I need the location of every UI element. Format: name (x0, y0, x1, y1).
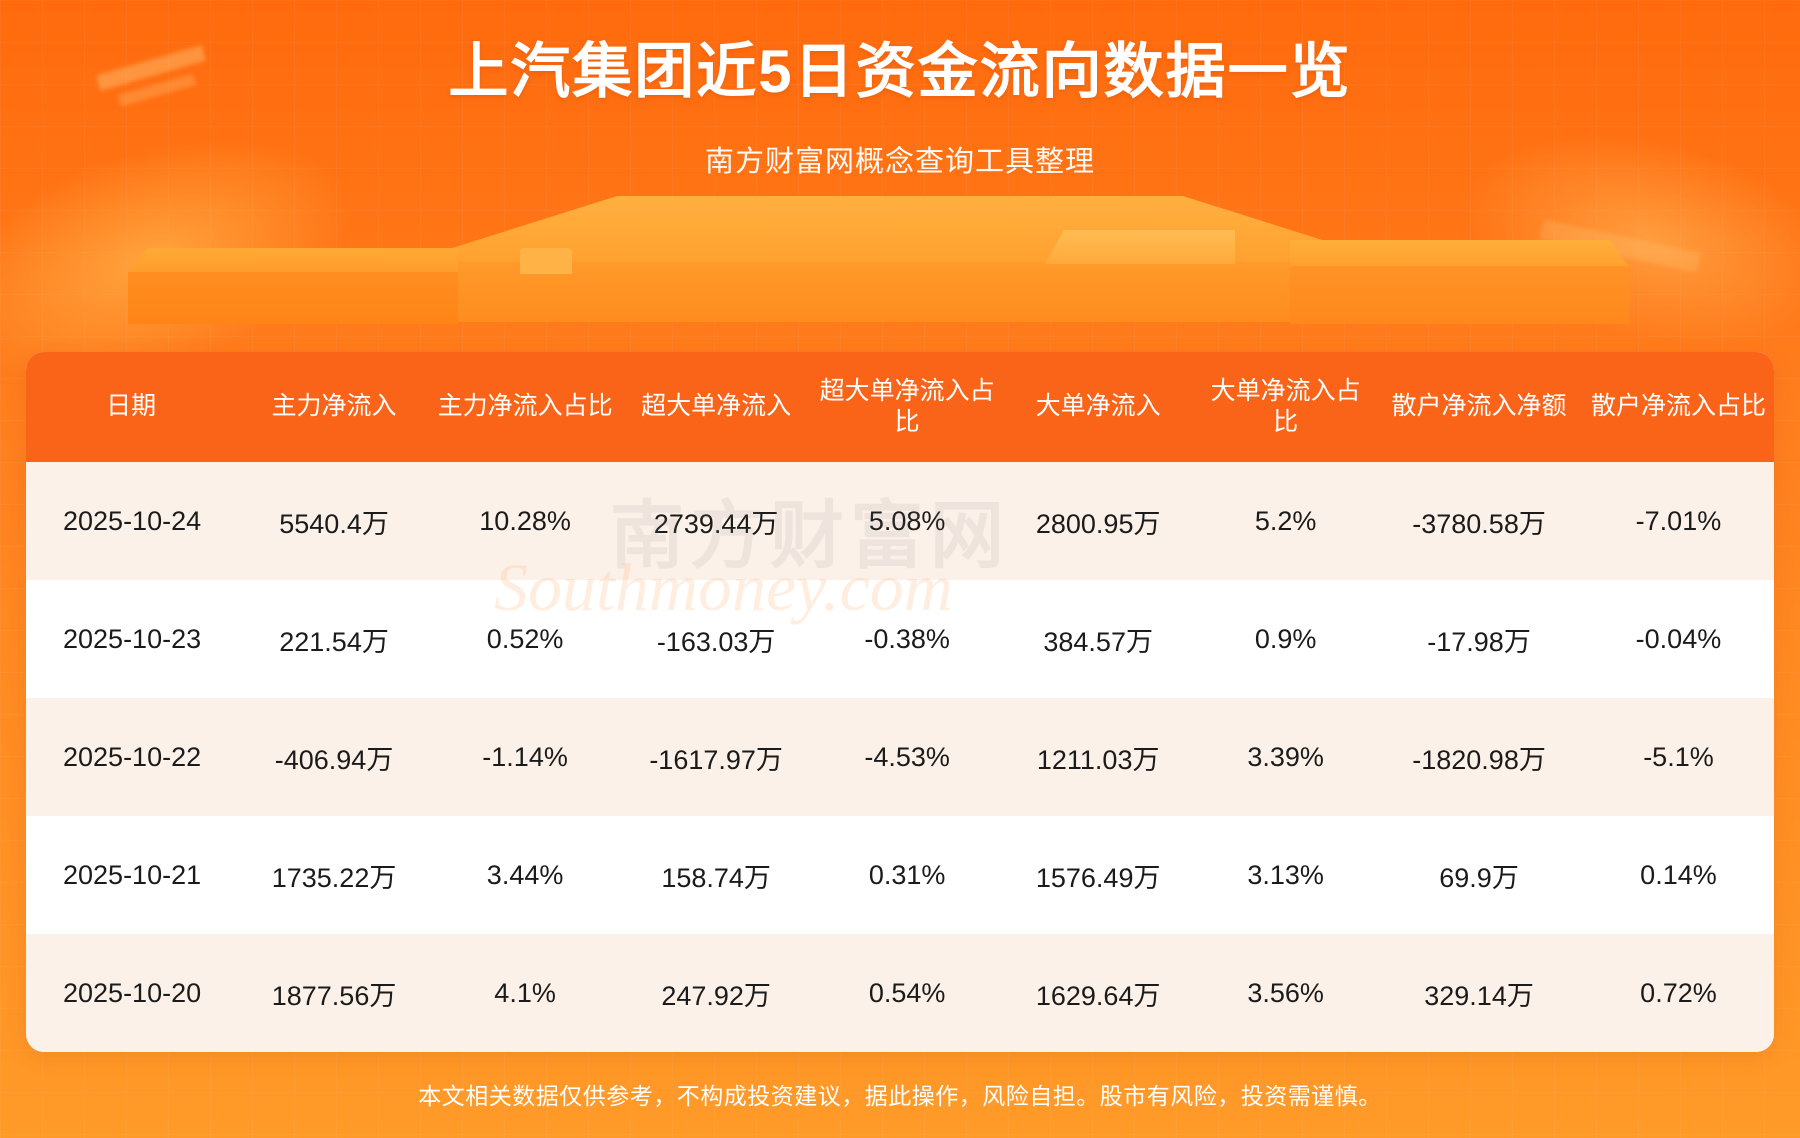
cell-large-net: 1629.64万 (1000, 934, 1196, 1052)
column-header-xlarge-net[interactable]: 超大单净流入 (618, 352, 814, 462)
cell-retail-pct: 0.14% (1583, 816, 1774, 934)
cell-retail-net: -3780.58万 (1375, 462, 1583, 580)
column-header-date[interactable]: 日期 (26, 352, 236, 462)
podium-right-top (1290, 240, 1630, 268)
cell-large-net: 1576.49万 (1000, 816, 1196, 934)
table-row: 2025-10-22 -406.94万 -1.14% -1617.97万 -4.… (26, 698, 1774, 816)
table-header-row: 日期 主力净流入 主力净流入占比 超大单净流入 超大单净流入占比 大单净流入 大… (26, 352, 1774, 462)
cell-date: 2025-10-22 (26, 698, 236, 816)
cell-xlarge-pct: -4.53% (814, 698, 1000, 816)
cell-xlarge-pct: 0.54% (814, 934, 1000, 1052)
cell-large-pct: 5.2% (1196, 462, 1375, 580)
cell-large-pct: 3.13% (1196, 816, 1375, 934)
podium-left-body (128, 272, 458, 324)
cell-large-pct: 3.39% (1196, 698, 1375, 816)
cell-xlarge-pct: -0.38% (814, 580, 1000, 698)
cell-main-net: 1735.22万 (236, 816, 432, 934)
cell-retail-pct: 0.72% (1583, 934, 1774, 1052)
table-row: 2025-10-20 1877.56万 4.1% 247.92万 0.54% 1… (26, 934, 1774, 1052)
cell-retail-net: -17.98万 (1375, 580, 1583, 698)
cell-xlarge-net: 2739.44万 (618, 462, 814, 580)
cell-main-net: 221.54万 (236, 580, 432, 698)
cell-main-pct: 3.44% (432, 816, 618, 934)
cell-main-pct: 0.52% (432, 580, 618, 698)
page-header: 上汽集团近5日资金流向数据一览 南方财富网概念查询工具整理 (0, 0, 1800, 180)
cell-retail-net: 69.9万 (1375, 816, 1583, 934)
cell-main-net: 5540.4万 (236, 462, 432, 580)
column-header-retail-net[interactable]: 散户净流入净额 (1375, 352, 1583, 462)
column-header-xlarge-pct[interactable]: 超大单净流入占比 (814, 352, 1000, 462)
cell-date: 2025-10-21 (26, 816, 236, 934)
disclaimer-text: 本文相关数据仅供参考，不构成投资建议，据此操作，风险自担。股市有风险，投资需谨慎… (418, 1077, 1382, 1111)
cell-date: 2025-10-24 (26, 462, 236, 580)
cell-large-net: 2800.95万 (1000, 462, 1196, 580)
cell-main-pct: -1.14% (432, 698, 618, 816)
podium-small-block-b (1045, 230, 1235, 264)
table-row: 2025-10-23 221.54万 0.52% -163.03万 -0.38%… (26, 580, 1774, 698)
podium-left-top (128, 248, 458, 274)
cell-xlarge-net: -163.03万 (618, 580, 814, 698)
cell-xlarge-net: -1617.97万 (618, 698, 814, 816)
cell-large-pct: 0.9% (1196, 580, 1375, 698)
cell-main-pct: 4.1% (432, 934, 618, 1052)
cell-xlarge-pct: 0.31% (814, 816, 1000, 934)
cell-retail-net: -1820.98万 (1375, 698, 1583, 816)
page-subtitle: 南方财富网概念查询工具整理 (0, 138, 1800, 180)
column-header-main-pct[interactable]: 主力净流入占比 (432, 352, 618, 462)
fund-flow-table: 日期 主力净流入 主力净流入占比 超大单净流入 超大单净流入占比 大单净流入 大… (26, 352, 1774, 1052)
cell-retail-net: 329.14万 (1375, 934, 1583, 1052)
cell-date: 2025-10-20 (26, 934, 236, 1052)
cell-xlarge-pct: 5.08% (814, 462, 1000, 580)
cell-date: 2025-10-23 (26, 580, 236, 698)
data-table-card: 日期 主力净流入 主力净流入占比 超大单净流入 超大单净流入占比 大单净流入 大… (26, 352, 1774, 1052)
column-header-retail-pct[interactable]: 散户净流入占比 (1583, 352, 1774, 462)
podium-right-body (1290, 266, 1630, 324)
table-body: 2025-10-24 5540.4万 10.28% 2739.44万 5.08%… (26, 462, 1774, 1052)
cell-xlarge-net: 158.74万 (618, 816, 814, 934)
cell-retail-pct: -0.04% (1583, 580, 1774, 698)
page-title: 上汽集团近5日资金流向数据一览 (0, 36, 1800, 108)
podium-small-block-a (520, 248, 572, 274)
column-header-main-net[interactable]: 主力净流入 (236, 352, 432, 462)
column-header-large-pct[interactable]: 大单净流入占比 (1196, 352, 1375, 462)
cell-xlarge-net: 247.92万 (618, 934, 814, 1052)
table-row: 2025-10-21 1735.22万 3.44% 158.74万 0.31% … (26, 816, 1774, 934)
cell-retail-pct: -7.01% (1583, 462, 1774, 580)
cell-large-net: 384.57万 (1000, 580, 1196, 698)
cell-main-net: -406.94万 (236, 698, 432, 816)
table-row: 2025-10-24 5540.4万 10.28% 2739.44万 5.08%… (26, 462, 1774, 580)
column-header-large-net[interactable]: 大单净流入 (1000, 352, 1196, 462)
cell-main-pct: 10.28% (432, 462, 618, 580)
cell-large-net: 1211.03万 (1000, 698, 1196, 816)
page-footer: 本文相关数据仅供参考，不构成投资建议，据此操作，风险自担。股市有风险，投资需谨慎… (0, 1050, 1800, 1138)
cell-retail-pct: -5.1% (1583, 698, 1774, 816)
cell-main-net: 1877.56万 (236, 934, 432, 1052)
table-header: 日期 主力净流入 主力净流入占比 超大单净流入 超大单净流入占比 大单净流入 大… (26, 352, 1774, 462)
cell-large-pct: 3.56% (1196, 934, 1375, 1052)
